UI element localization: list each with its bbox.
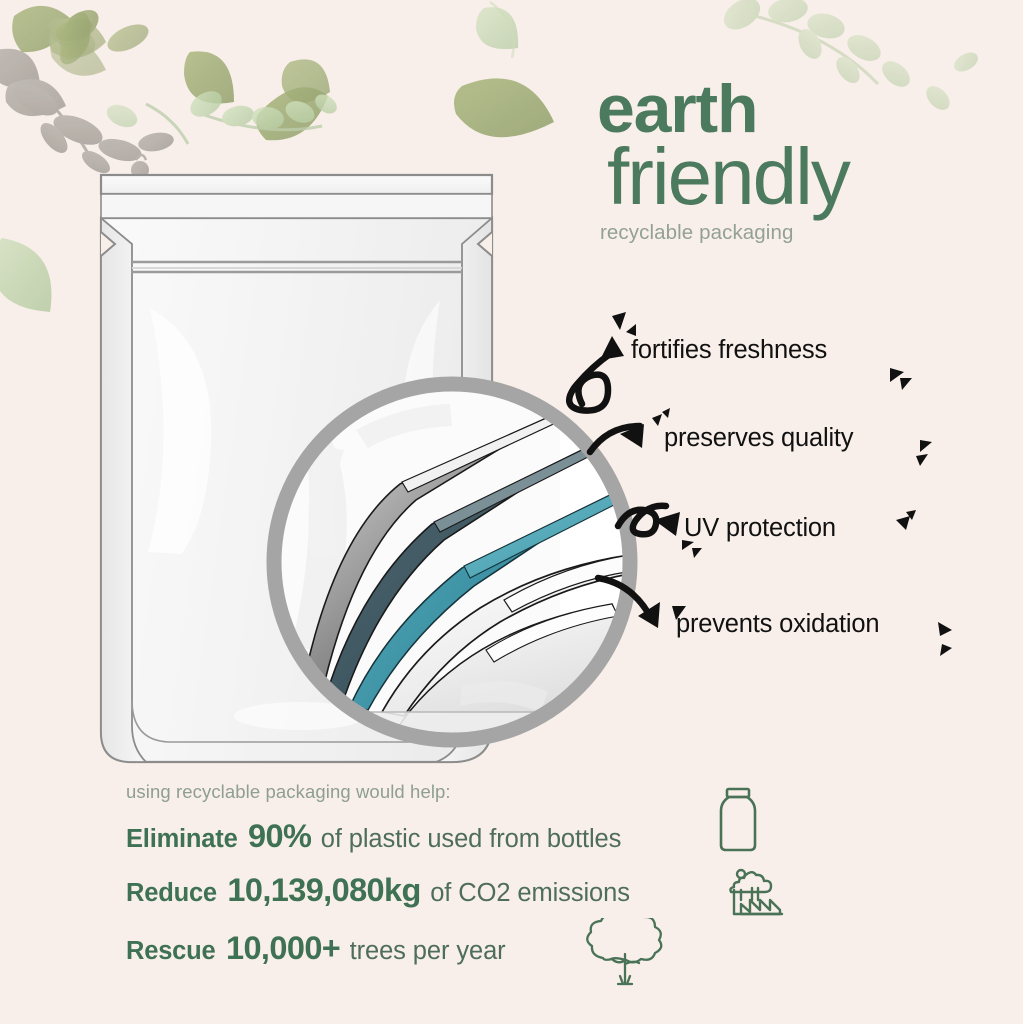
bottle-icon <box>716 787 760 853</box>
headline-subtitle: recyclable packaging <box>600 221 1017 245</box>
stat-verb: Reduce <box>126 879 217 907</box>
stat-value: 10,000+ <box>226 930 340 966</box>
stat-tail: of CO2 emissions <box>430 879 630 907</box>
stat-verb: Rescue <box>126 937 216 965</box>
feature-label-uv-protection: UV protection <box>684 514 836 543</box>
infographic-canvas: earth friendly recyclable packaging fort… <box>0 0 1023 1024</box>
feature-label-preserves-quality: preserves quality <box>664 424 853 453</box>
stat-row: Reduce 10,139,080kg of CO2 emissions <box>126 874 906 907</box>
stat-tail: of plastic used from bottles <box>321 825 622 853</box>
factory-icon <box>722 862 784 916</box>
stat-tail: trees per year <box>350 937 506 965</box>
page-title: earth friendly recyclable packaging <box>597 78 1017 245</box>
stat-value: 10,139,080kg <box>227 872 420 908</box>
tree-icon <box>573 918 677 990</box>
stat-verb: Eliminate <box>126 825 238 853</box>
headline-line-2: friendly <box>607 139 1017 216</box>
stats-lead-in: using recyclable packaging would help: <box>126 781 906 803</box>
feature-label-fortifies-freshness: fortifies freshness <box>631 336 827 365</box>
feature-label-prevents-oxidation: prevents oxidation <box>676 610 879 639</box>
stat-row: Rescue 10,000+ trees per year <box>126 932 906 965</box>
impact-stats: using recyclable packaging would help: E… <box>126 781 906 986</box>
stat-value: 90% <box>248 818 311 854</box>
stat-row: Eliminate 90% of plastic used from bottl… <box>126 820 906 853</box>
